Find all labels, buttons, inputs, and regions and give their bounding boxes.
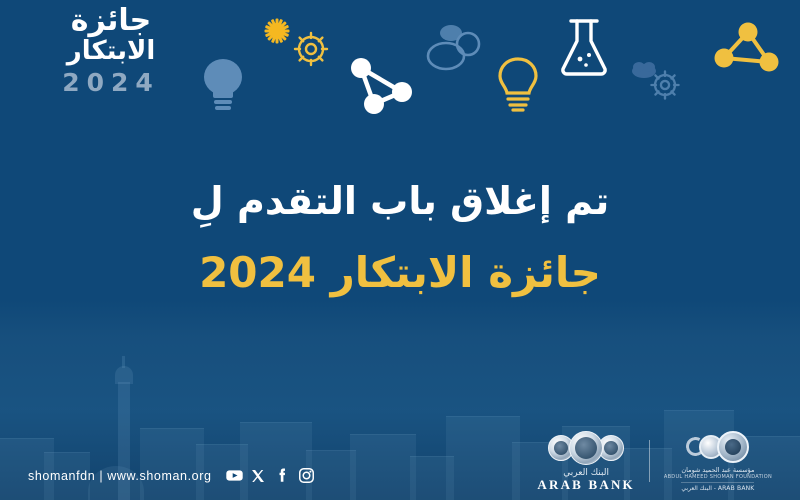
headline-text: تم إغلاق باب التقدم لِ: [0, 178, 800, 226]
shoman-english-name: ABDUL HAMEED SHOMAN FOUNDATION: [664, 474, 772, 480]
lightbulb-icon-filled-blue: [200, 55, 246, 115]
award-logo: جائزة الابتكار 2024: [26, 6, 196, 95]
shoman-circle-large-icon: [717, 431, 749, 463]
building-silhouette: [446, 416, 520, 500]
arab-bank-emblem-icon: [548, 431, 624, 465]
instagram-icon[interactable]: [298, 467, 315, 484]
shoman-arabic-name: مؤسسة عبد الحميد شومان: [681, 466, 754, 474]
arab-bank-english-name: ARAB BANK: [537, 478, 634, 492]
subline-text: جائزة الابتكار 2024: [0, 248, 800, 298]
flask-icon-white: [556, 14, 612, 80]
partner-logos: البنك العربي ARAB BANK مؤسسة عبد الحميد …: [523, 431, 786, 492]
shoman-bank-line: البنك العربي - ARAB BANK: [681, 482, 754, 492]
network-nodes-icon-white: [344, 52, 416, 118]
social-handle-text: shomanfdn | www.shoman.org: [28, 469, 219, 483]
x-twitter-icon[interactable]: [250, 467, 267, 484]
message-block: تم إغلاق باب التقدم لِ جائزة الابتكار 20…: [0, 178, 800, 298]
coin-center-icon: [569, 431, 603, 465]
award-logo-line1: جائزة: [26, 6, 196, 36]
circles-icon-blue: [424, 22, 486, 76]
gear-icon-outline-yellow: [290, 28, 332, 70]
award-logo-year: 2024: [26, 70, 196, 95]
gear-icon-outline-blue: [646, 66, 684, 104]
building-silhouette: [240, 422, 312, 500]
social-links: shomanfdn | www.shoman.org: [28, 467, 315, 484]
shoman-emblem-icon: [686, 431, 749, 463]
lightbulb-icon-outline-yellow: [495, 56, 541, 114]
youtube-icon[interactable]: [226, 467, 243, 484]
arab-bank-logo: البنك العربي ARAB BANK: [523, 431, 648, 492]
network-nodes-icon-yellow: [712, 20, 782, 76]
building-silhouette: [350, 434, 416, 500]
shoman-foundation-logo: مؤسسة عبد الحميد شومان ABDUL HAMEED SHOM…: [650, 431, 786, 492]
facebook-icon[interactable]: [274, 467, 291, 484]
award-logo-line2: الابتكار: [26, 38, 196, 64]
announcement-poster: جائزة الابتكار 2024: [0, 0, 800, 500]
building-silhouette: [140, 428, 204, 500]
gear-icon-filled-yellow: [264, 18, 290, 44]
